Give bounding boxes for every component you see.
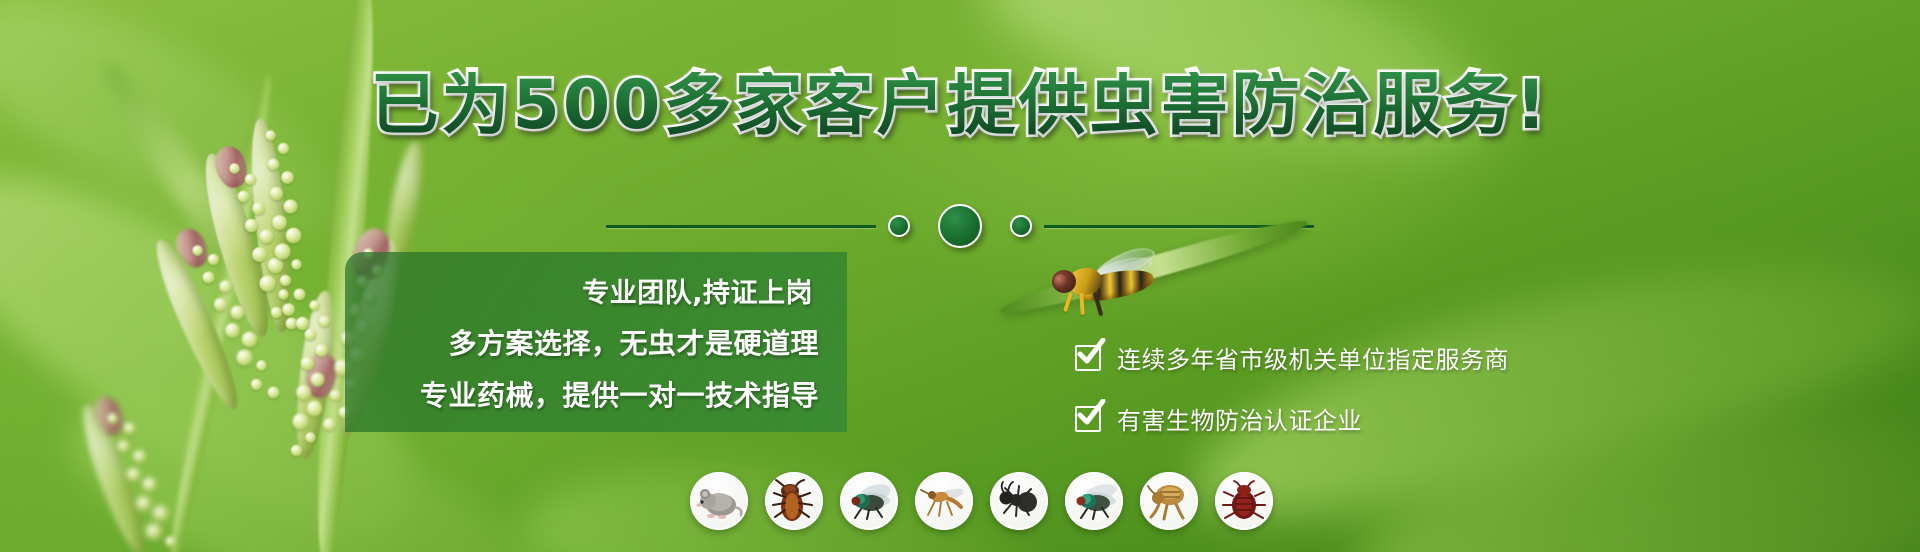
seed-bead bbox=[203, 272, 215, 284]
mosquito-icon[interactable] bbox=[915, 472, 973, 530]
seed-bead bbox=[291, 260, 301, 270]
seed-bead bbox=[315, 344, 328, 357]
seed-bead bbox=[301, 357, 314, 370]
list-item: 连续多年省市级机关单位指定服务商 bbox=[1075, 340, 1509, 375]
checkbox-checked-icon bbox=[1075, 345, 1101, 371]
fly-eye bbox=[1054, 274, 1067, 289]
credentials-list: 连续多年省市级机关单位指定服务商 有害生物防治认证企业 bbox=[1075, 340, 1509, 462]
divider bbox=[0, 205, 1920, 247]
seed-bead bbox=[231, 306, 245, 320]
list-item: 有害生物防治认证企业 bbox=[1075, 401, 1509, 436]
seed-bead bbox=[143, 478, 157, 492]
seed-bead bbox=[270, 187, 283, 200]
divider-line-left bbox=[606, 225, 876, 228]
seed-bead bbox=[278, 289, 288, 299]
selling-point-2: 多方案选择，无虫才是硬道理 bbox=[448, 322, 819, 362]
seed-bead bbox=[251, 379, 262, 390]
checkbox-checked-icon bbox=[1075, 406, 1101, 432]
seed-bead bbox=[133, 450, 146, 463]
cockroach-icon[interactable] bbox=[765, 472, 823, 530]
seed-bead bbox=[267, 258, 282, 273]
fly-icon[interactable] bbox=[840, 472, 898, 530]
divider-dot bbox=[1010, 215, 1032, 237]
flea-icon[interactable] bbox=[1140, 472, 1198, 530]
pest-control-banner: 已为500多家客户提供虫害防治服务! 已为500多家客户提供虫害防治服务! 专业… bbox=[0, 0, 1920, 552]
seed-bead bbox=[306, 401, 321, 416]
seed-bead bbox=[268, 158, 280, 170]
seed-bead bbox=[136, 496, 151, 511]
fly-leg bbox=[1063, 292, 1073, 312]
seed-bead bbox=[280, 275, 291, 286]
seed-bead bbox=[281, 171, 294, 184]
selling-point-3: 专业药械，提供一对一技术指导 bbox=[420, 374, 819, 414]
divider-dot bbox=[888, 215, 910, 237]
seed-bead bbox=[283, 304, 296, 317]
blowfly-icon[interactable] bbox=[1065, 472, 1123, 530]
seed-bead bbox=[305, 432, 315, 442]
credential-label: 连续多年省市级机关单位指定服务商 bbox=[1117, 340, 1509, 375]
seed-bead bbox=[208, 254, 219, 265]
seed-bead bbox=[165, 536, 175, 546]
seed-bead bbox=[230, 163, 240, 173]
seed-bead bbox=[236, 349, 252, 365]
seed-bead bbox=[323, 418, 336, 431]
seed-bead bbox=[124, 423, 135, 434]
seed-bead bbox=[245, 174, 256, 185]
hoverfly-icon bbox=[1050, 252, 1160, 312]
seed-bead bbox=[219, 280, 232, 293]
mouse-icon[interactable] bbox=[690, 472, 748, 530]
seed-bead bbox=[146, 523, 162, 539]
selling-point-1: 专业团队,持证上岗 bbox=[582, 271, 813, 310]
credential-label: 有害生物防治认证企业 bbox=[1117, 401, 1362, 436]
seed-bead bbox=[242, 332, 257, 347]
seed-bead bbox=[256, 361, 266, 371]
seed-bead bbox=[293, 288, 305, 300]
seed-bead bbox=[278, 143, 289, 154]
pest-icon-row bbox=[690, 472, 1273, 530]
seed-bead bbox=[214, 298, 227, 311]
selling-points-panel: 专业团队,持证上岗 多方案选择，无虫才是硬道理 专业药械，提供一对一技术指导 bbox=[345, 252, 847, 432]
seed-bead bbox=[117, 441, 129, 453]
seed-bead bbox=[237, 191, 249, 203]
seed-bead bbox=[296, 317, 309, 330]
ant-icon[interactable] bbox=[990, 472, 1048, 530]
seed-bead bbox=[225, 324, 240, 339]
seed-bead bbox=[152, 505, 167, 520]
bedbug-icon[interactable] bbox=[1215, 472, 1273, 530]
seed-bead bbox=[127, 468, 140, 481]
divider-dot bbox=[938, 204, 982, 248]
seed-bead bbox=[192, 246, 202, 256]
seed-bead bbox=[267, 387, 279, 399]
seed-bead bbox=[311, 372, 325, 386]
page-title: 已为500多家客户提供虫害防治服务! bbox=[0, 72, 1920, 140]
seed-bead bbox=[291, 445, 302, 456]
seed-bead bbox=[292, 413, 308, 429]
seed-bead bbox=[270, 307, 281, 318]
